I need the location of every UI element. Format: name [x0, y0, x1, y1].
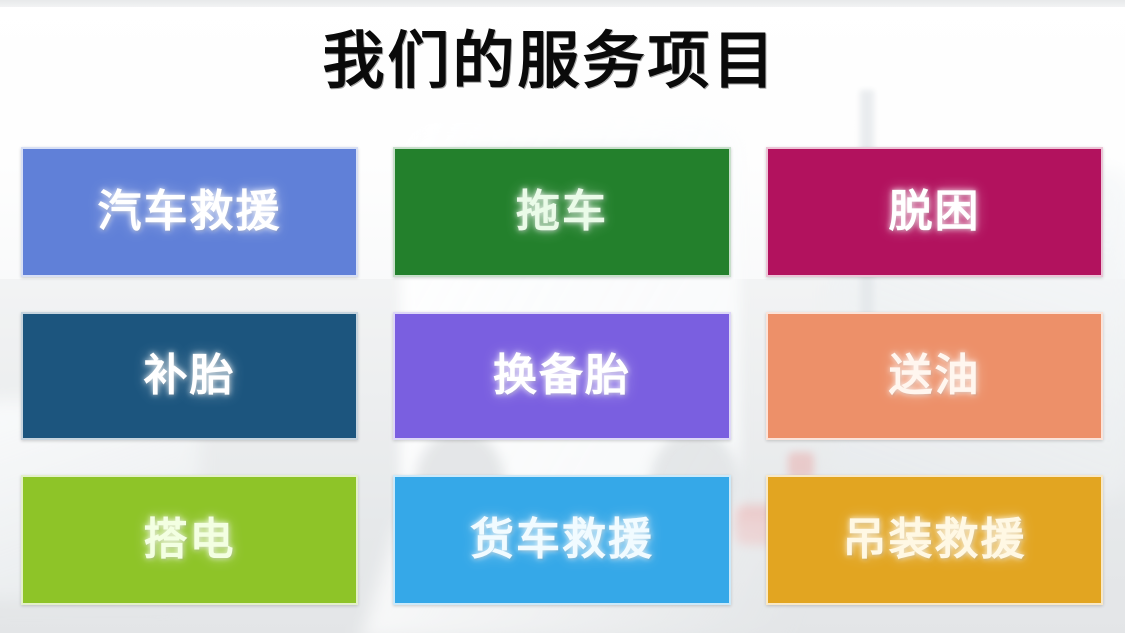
service-tile-label: 脱困	[889, 190, 981, 234]
service-tile-tuokun[interactable]: 脱困	[766, 147, 1103, 277]
service-tile-label: 拖车	[516, 190, 608, 234]
service-tile-huanbeitai[interactable]: 换备胎	[393, 312, 731, 440]
service-tile-tuoche[interactable]: 拖车	[393, 147, 731, 277]
service-tile-diaozhuang-jiuyuan[interactable]: 吊装救援	[766, 475, 1103, 605]
service-tile-huoche-jiuyuan[interactable]: 货车救援	[393, 475, 731, 605]
service-tile-dadian[interactable]: 搭电	[21, 475, 358, 605]
service-tile-label: 吊装救援	[843, 518, 1027, 562]
service-tile-label: 换备胎	[493, 354, 631, 398]
service-tile-label: 汽车救援	[98, 190, 282, 234]
service-poster: 我们的服务项目 汽车救援 拖车 脱困 补胎 换备胎 送油 搭电 货车救援 吊装救…	[0, 0, 1125, 633]
page-title: 我们的服务项目	[0, 26, 1100, 98]
service-tile-label: 补胎	[144, 354, 236, 398]
service-tile-label: 搭电	[144, 518, 236, 562]
service-grid: 汽车救援 拖车 脱困 补胎 换备胎 送油 搭电 货车救援 吊装救援	[21, 147, 1103, 605]
service-tile-songyou[interactable]: 送油	[766, 312, 1103, 440]
service-tile-qiche-jiuyuan[interactable]: 汽车救援	[21, 147, 358, 277]
background-top-bar	[0, 0, 1125, 7]
service-tile-butai[interactable]: 补胎	[21, 312, 358, 440]
service-tile-label: 货车救援	[470, 518, 654, 562]
service-tile-label: 送油	[889, 354, 981, 398]
